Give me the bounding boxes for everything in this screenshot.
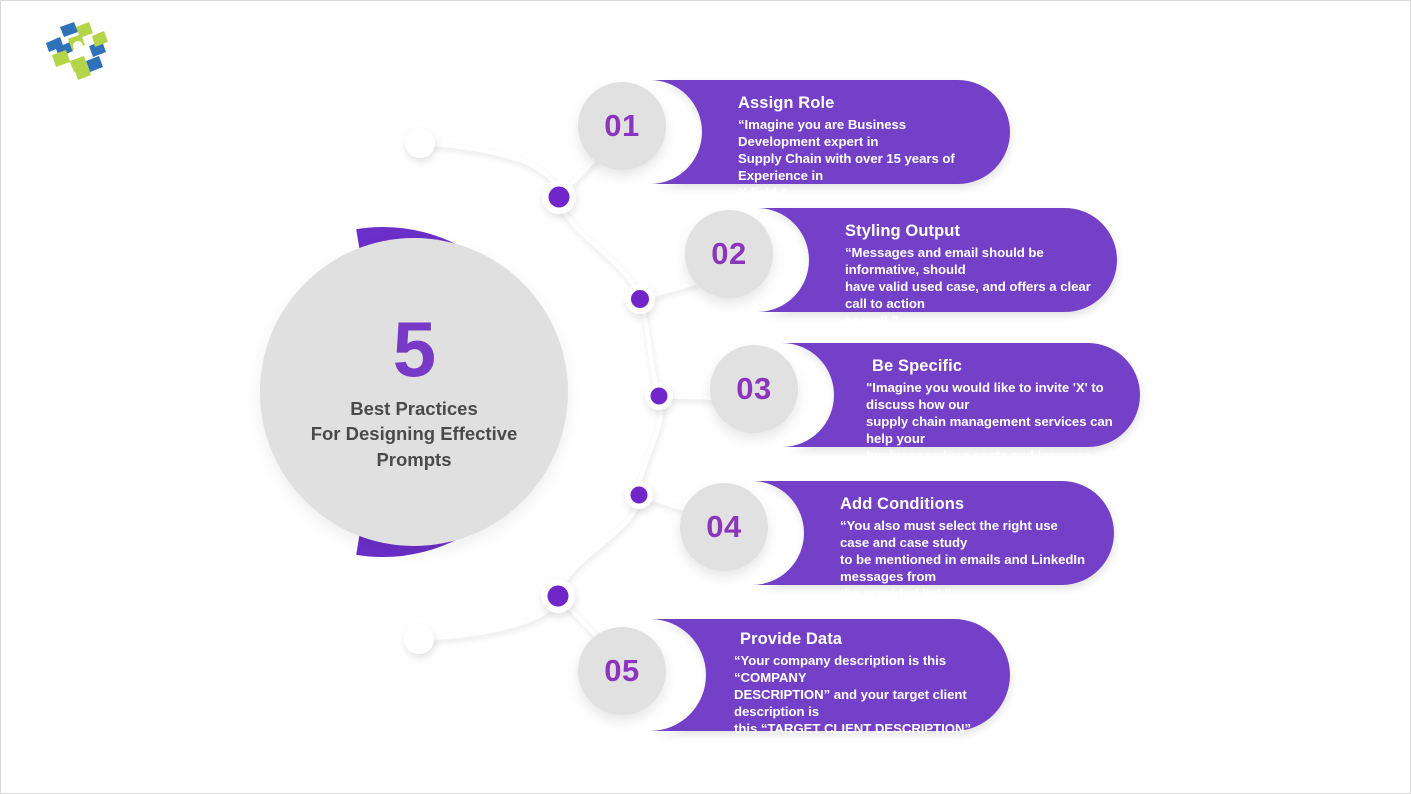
step-item-02[interactable]: Styling Output “Messages and email shoul… — [757, 208, 1117, 312]
step-body-04: “You also must select the right use case… — [840, 517, 1088, 603]
infographic-canvas: 5 Best Practices For Designing Effective… — [0, 0, 1411, 794]
step-body-line: “Imagine you are Business Development ex… — [738, 116, 984, 150]
step-body-line: the provided list.” — [840, 585, 1088, 602]
junction-node-4[interactable] — [625, 481, 653, 509]
step-body-line: "Imagine you would like to invite 'X' to… — [866, 379, 1114, 413]
hub-number: 5 — [393, 312, 435, 386]
step-title-05: Provide Data — [740, 629, 984, 650]
step-badge-01: 01 — [578, 82, 666, 170]
step-text-04: Add Conditions “You also must select the… — [752, 481, 1114, 585]
branch-line-2 — [640, 282, 698, 299]
step-title-01: Assign Role — [738, 93, 984, 114]
company-logo — [30, 20, 122, 82]
step-body-03: "Imagine you would like to invite 'X' to… — [866, 379, 1114, 482]
step-body-02: “Messages and email should be informativ… — [845, 244, 1091, 330]
step-item-05[interactable]: Provide Data “Your company description i… — [650, 619, 1010, 731]
company-logo-icon — [30, 20, 122, 82]
step-badge-05: 05 — [578, 627, 666, 715]
step-body-line: “Your company description is this “COMPA… — [734, 652, 984, 686]
terminal-node-top — [405, 128, 435, 158]
step-body-line: “Messages and email should be informativ… — [845, 244, 1091, 278]
step-body-05: “Your company description is this “COMPA… — [734, 652, 984, 789]
step-body-line: this “TARGET CLIENT DESCRIPTION” and you… — [734, 720, 984, 754]
step-body-line: Supply Chain with over 15 years of Exper… — [738, 150, 984, 184]
step-text-02: Styling Output “Messages and email shoul… — [757, 208, 1117, 312]
step-body-line: business reduce costs and increase effic… — [866, 447, 1114, 481]
step-body-line: supply chain management services can hel… — [866, 413, 1114, 447]
step-body-line: “You also must select the right use case… — [840, 517, 1088, 551]
hub-caption-line-1: Best Practices — [311, 396, 518, 422]
step-body-line: to be mentioned in emails and LinkedIn m… — [840, 551, 1088, 585]
step-body-line: client is working on “TARGET CLIENT'S US… — [734, 755, 984, 789]
step-body-line: have valid used case, and offers a clear… — [845, 278, 1091, 312]
step-text-03: Be Specific "Imagine you would like to i… — [782, 343, 1140, 447]
step-title-02: Styling Output — [845, 221, 1091, 242]
hub-caption-line-3: Prompts — [311, 447, 518, 473]
step-body-line: as well.” — [845, 312, 1091, 329]
step-item-04[interactable]: Add Conditions “You also must select the… — [752, 481, 1114, 585]
step-badge-03: 03 — [710, 345, 798, 433]
central-hub: 5 Best Practices For Designing Effective… — [248, 218, 596, 566]
hub-caption-line-2: For Designing Effective — [311, 421, 518, 447]
step-text-05: Provide Data “Your company description i… — [650, 619, 1010, 731]
step-title-04: Add Conditions — [840, 494, 1088, 515]
step-badge-02: 02 — [685, 210, 773, 298]
hub-caption: Best Practices For Designing Effective P… — [311, 396, 518, 473]
hub-disc: 5 Best Practices For Designing Effective… — [260, 238, 568, 546]
junction-node-3[interactable] — [645, 382, 673, 410]
step-title-03: Be Specific — [872, 356, 1114, 377]
step-body-line: X field “ — [738, 184, 984, 201]
step-text-01: Assign Role “Imagine you are Business De… — [650, 80, 1010, 184]
terminal-node-bottom — [404, 624, 434, 654]
junction-node-1[interactable] — [542, 180, 576, 214]
branch-line-5 — [558, 596, 600, 640]
step-item-03[interactable]: Be Specific "Imagine you would like to i… — [782, 343, 1140, 447]
step-body-line: DESCRIPTION” and your target client desc… — [734, 686, 984, 720]
step-badge-04: 04 — [680, 483, 768, 571]
junction-node-2[interactable] — [625, 284, 655, 314]
junction-node-5[interactable] — [541, 579, 575, 613]
step-body-01: “Imagine you are Business Development ex… — [738, 116, 984, 202]
step-item-01[interactable]: Assign Role “Imagine you are Business De… — [650, 80, 1010, 184]
